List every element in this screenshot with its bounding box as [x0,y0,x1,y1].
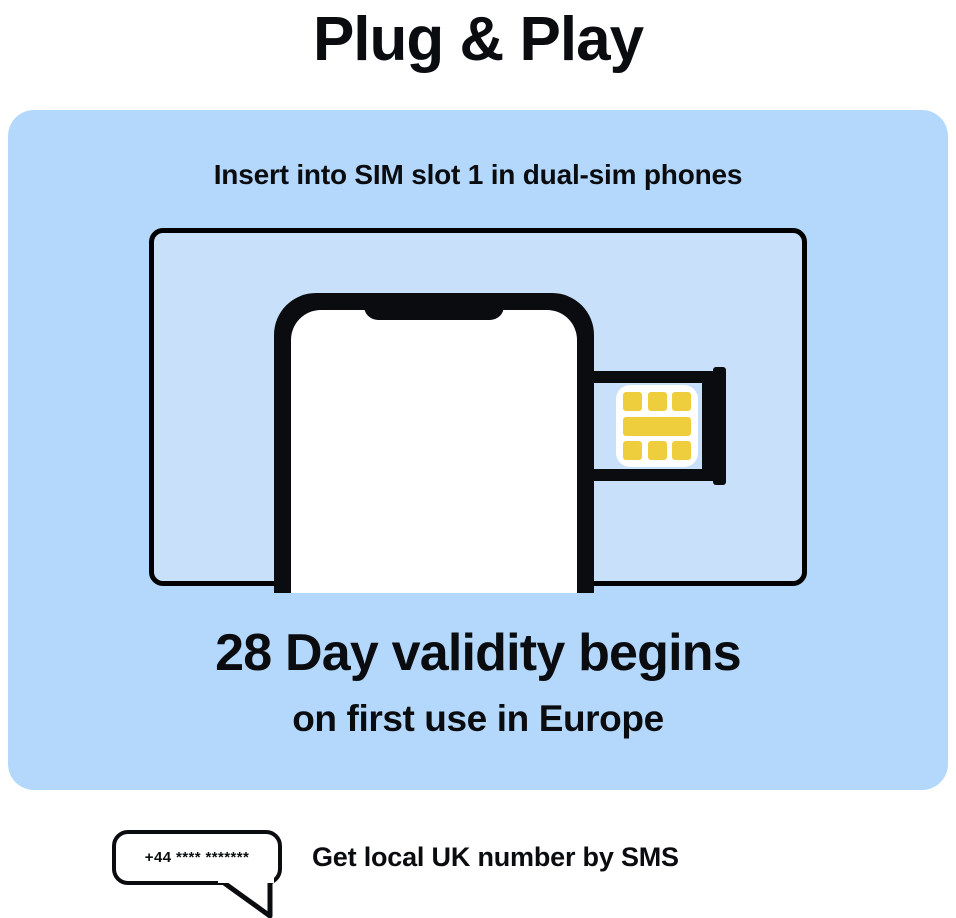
validity-subline: on first use in Europe [8,696,948,742]
sim-chip-pad [623,417,691,436]
sim-chip-pad [672,392,691,411]
sim-chip-pad [623,441,642,460]
sim-tray-handle [713,367,726,485]
card-subtitle-lead: Insert into SIM slot 1 [214,159,483,190]
sim-chip-pad [672,441,691,460]
sim-chip-row-bottom [623,441,691,460]
sms-footer-label: Get local UK number by SMS [312,835,679,879]
card-subtitle-tail: in dual-sim phones [483,159,742,190]
phone-screen [291,310,577,593]
phone-icon [274,293,594,593]
sim-chip-pad [623,392,642,411]
card-subtitle: Insert into SIM slot 1 in dual-sim phone… [8,158,948,192]
sim-chip-row-middle [623,417,691,436]
sms-footer: +44 **** ******* Get local UK number by … [0,820,956,915]
sim-tray-icon [594,371,726,481]
sim-chip-pad [648,441,667,460]
sms-speech-bubble-icon: +44 **** ******* [112,830,282,885]
sms-bubble-tail-icon [218,878,278,918]
info-card: Insert into SIM slot 1 in dual-sim phone… [8,110,948,790]
phone-body [274,293,594,593]
phone-notch [364,293,504,320]
illustration-box [149,228,807,586]
sim-chip-icon [616,385,698,467]
sim-chip-pad [648,392,667,411]
page-title: Plug & Play [0,0,956,84]
sim-chip-row-top [623,392,691,411]
validity-headline: 28 Day validity begins [8,622,948,684]
sms-bubble-number: +44 **** ******* [116,834,278,881]
